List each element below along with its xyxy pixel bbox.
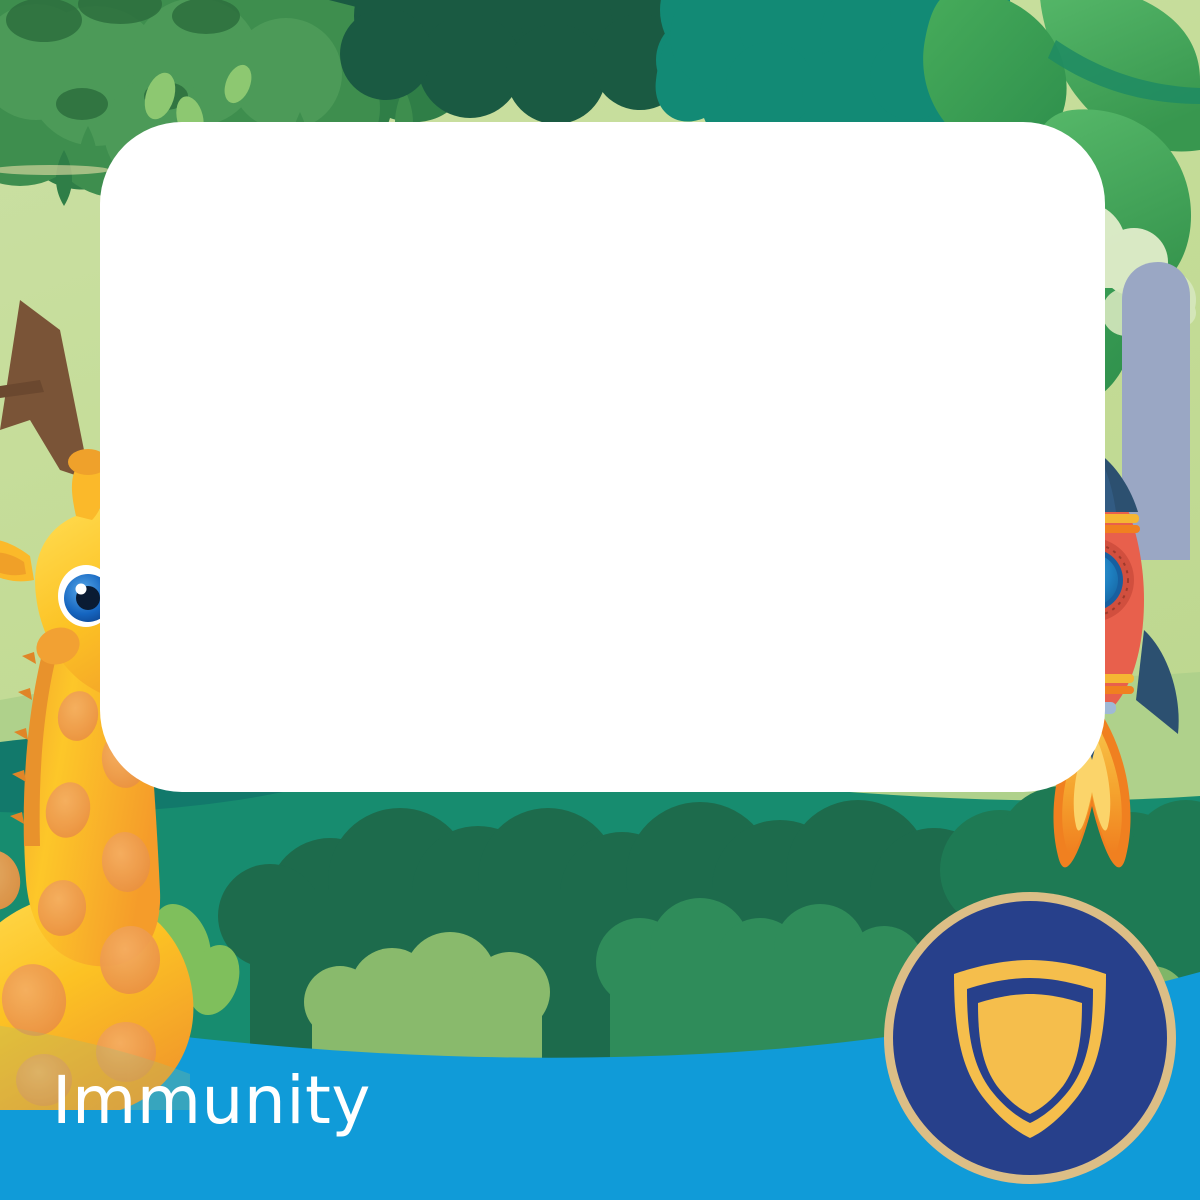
- slide-canvas: • Antioxidant system with zinc, vitamins…: [0, 0, 1200, 1200]
- page-title: Immunity: [52, 1062, 371, 1139]
- content-card: [100, 122, 1105, 792]
- immunity-shield-badge: [880, 888, 1180, 1188]
